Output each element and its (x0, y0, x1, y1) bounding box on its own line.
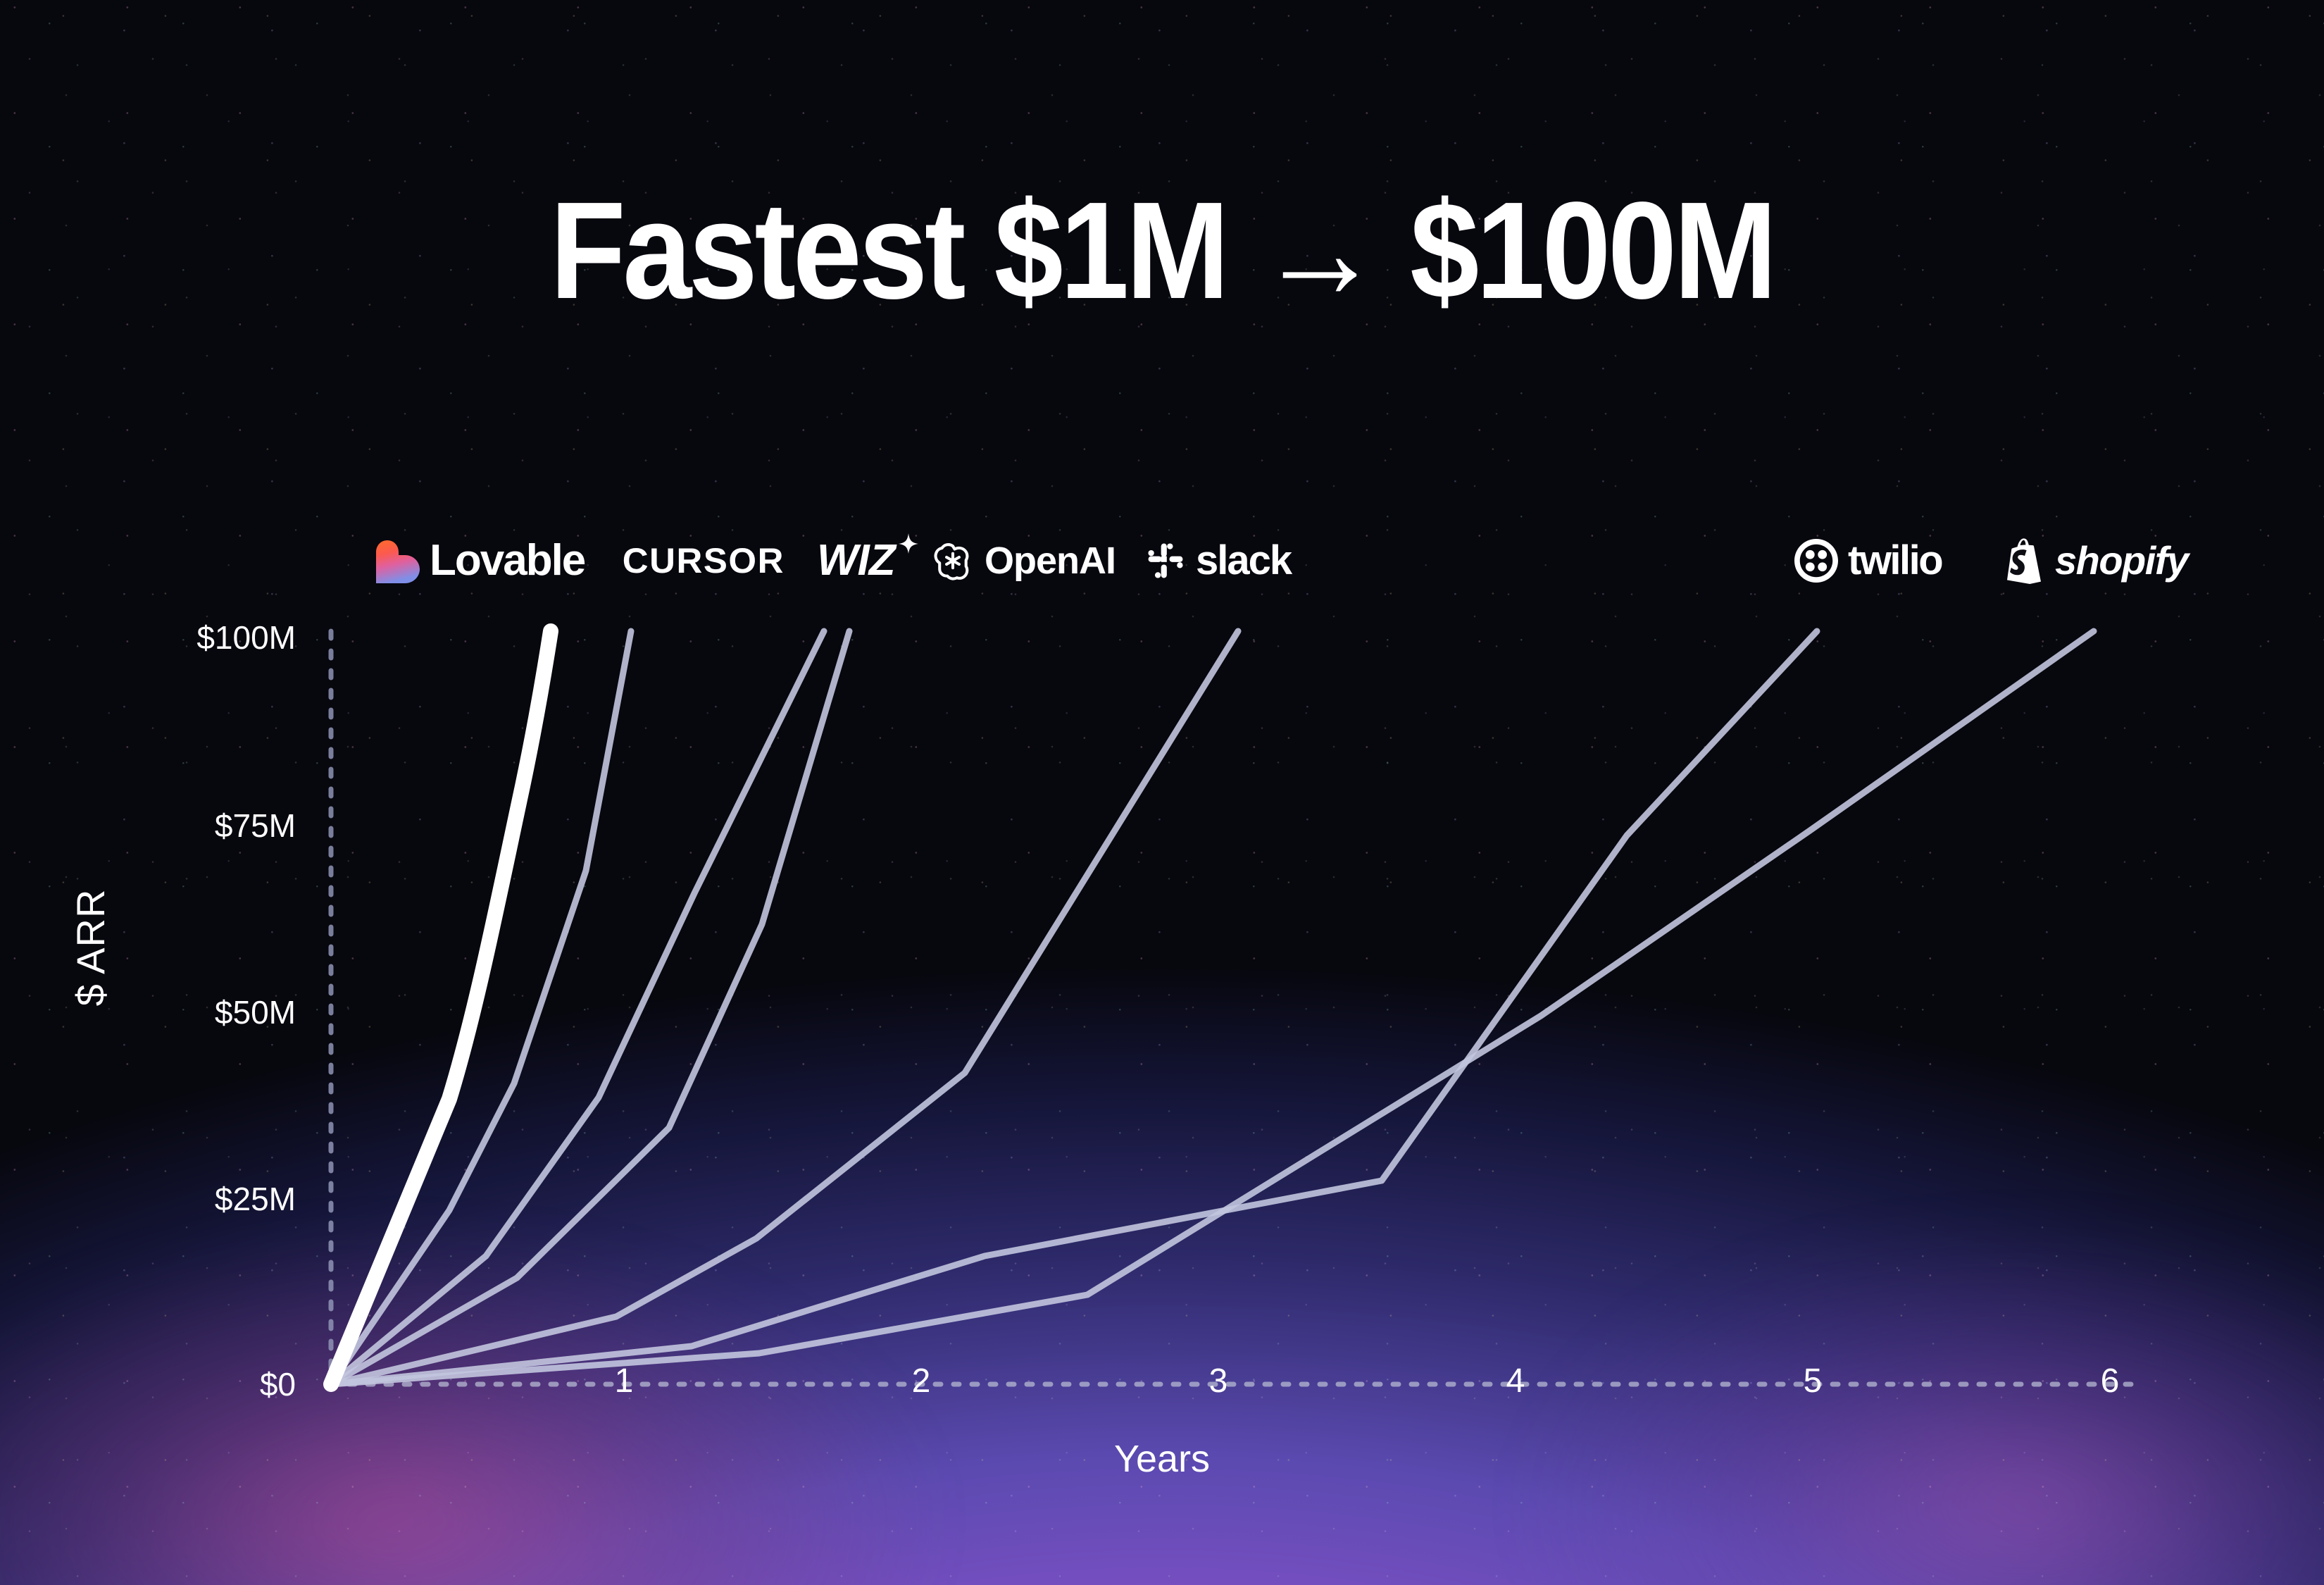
openai-blossom-icon (931, 539, 975, 583)
legend-label-openai: OpenAI (985, 542, 1116, 580)
legend-item-twilio[interactable]: twilio (1794, 534, 1942, 588)
legend-label-slack: slack (1196, 540, 1291, 581)
legend-item-wiz[interactable]: WIZ (817, 534, 920, 588)
legend-item-slack[interactable]: slack (1145, 534, 1291, 588)
lovable-heart-icon (376, 537, 420, 584)
legend-item-openai[interactable]: OpenAI (931, 534, 1116, 588)
legend-label-twilio: twilio (1848, 540, 1942, 581)
legend-label-shopify: shopify (2055, 541, 2188, 580)
chart-legend: Lovable CURSOR WIZ OpenAI (0, 0, 2324, 1585)
wiz-sparkle-icon (897, 529, 920, 574)
legend-item-cursor[interactable]: CURSOR (624, 534, 783, 588)
legend-label-cursor: CURSOR (623, 543, 785, 578)
shopify-bag-icon (2004, 537, 2045, 584)
legend-label-lovable: Lovable (430, 539, 585, 583)
legend-item-lovable[interactable]: Lovable (376, 534, 585, 588)
slack-hash-icon (1145, 540, 1186, 581)
twilio-circle-dots-icon (1794, 539, 1838, 583)
legend-item-shopify[interactable]: shopify (2004, 534, 2188, 588)
legend-label-wiz: WIZ (817, 539, 895, 583)
